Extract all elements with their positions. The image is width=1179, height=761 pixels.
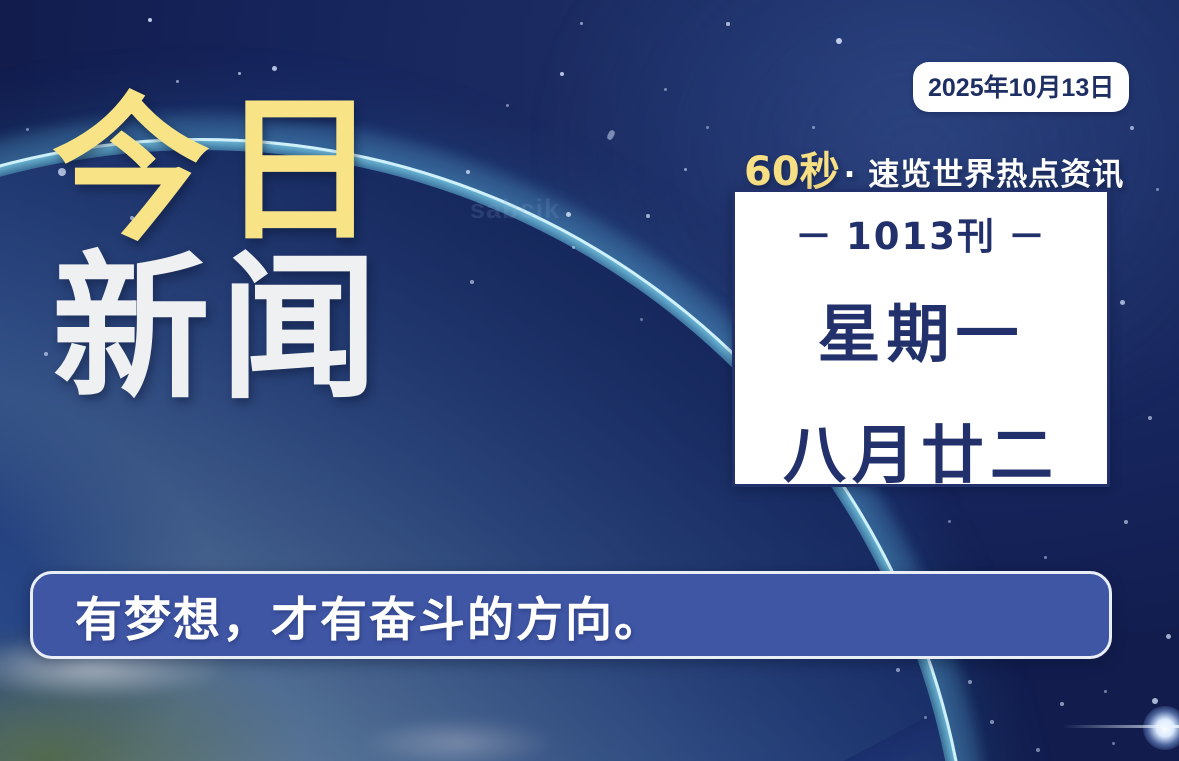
tagline-rest: · 速览世界热点资讯 <box>844 157 1125 193</box>
quote-text: 有梦想，才有奋斗的方向。 <box>75 581 663 650</box>
dash-left-icon: － <box>795 206 834 260</box>
page-title: 今日 新闻 <box>52 96 482 405</box>
headline-line-jinri: 今日 <box>52 96 482 248</box>
news-poster: sabcik 今日 新闻 2025年10月13日 60秒· 速览世界热点资讯 －… <box>0 0 1179 761</box>
lunar-date-label: 八月廿二 <box>783 405 1059 496</box>
weekday-label: 星期一 <box>818 284 1025 375</box>
headline-line-xinwen: 新闻 <box>52 254 482 406</box>
issue-info-card: －1013刊－ 星期一 八月廿二 <box>732 189 1110 487</box>
date-badge: 2025年10月13日 <box>913 62 1129 112</box>
issue-number: 1013刊 <box>846 215 996 258</box>
quote-bar: 有梦想，才有奋斗的方向。 <box>30 571 1112 659</box>
watermark-text: sabcik <box>470 194 560 225</box>
issue-number-row: －1013刊－ <box>783 206 1059 260</box>
dash-right-icon: － <box>1008 206 1047 260</box>
